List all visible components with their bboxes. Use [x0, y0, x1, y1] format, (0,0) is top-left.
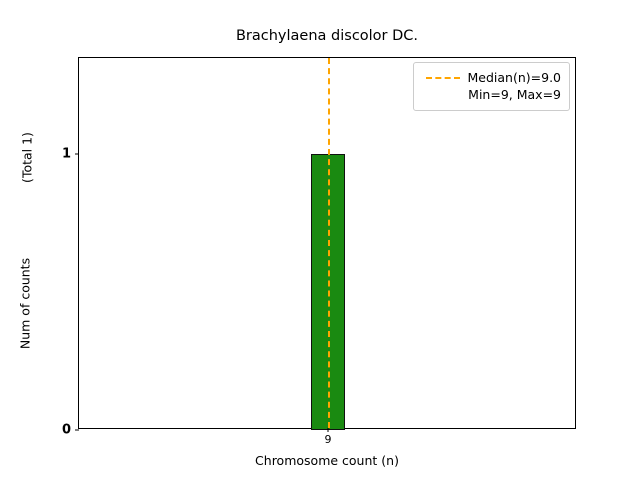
y-axis-tick-mark: [75, 154, 79, 155]
y-axis-total-label: (Total 1): [20, 98, 35, 218]
legend-entry-median-label: Median(n)=9.0: [468, 70, 562, 85]
y-axis-tick-label: 0: [62, 423, 71, 438]
chart-legend: Median(n)=9.0 Min=9, Max=9: [413, 62, 570, 111]
legend-entry-minmax-label: Min=9, Max=9: [468, 87, 561, 102]
y-axis-tick: 1: [62, 147, 79, 162]
chart-title: Brachylaena discolor DC.: [78, 28, 576, 44]
chart-figure: Brachylaena discolor DC. 019 Chromosome …: [0, 0, 640, 480]
median-line: [328, 58, 330, 428]
x-axis-tick: 9: [325, 428, 332, 446]
x-axis-tick-label: 9: [325, 433, 332, 446]
y-axis-label: Num of counts: [18, 224, 33, 384]
legend-entry-minmax: Min=9, Max=9: [422, 86, 561, 103]
x-axis-label: Chromosome count (n): [78, 453, 576, 468]
legend-entry-median: Median(n)=9.0: [422, 69, 561, 86]
y-axis-tick: 0: [62, 423, 79, 438]
y-axis-tick-mark: [75, 430, 79, 431]
x-axis-tick-mark: [328, 428, 329, 432]
dashed-line-icon: [426, 77, 460, 79]
y-axis-tick-label: 1: [62, 147, 71, 162]
plot-area: 019: [78, 57, 576, 429]
